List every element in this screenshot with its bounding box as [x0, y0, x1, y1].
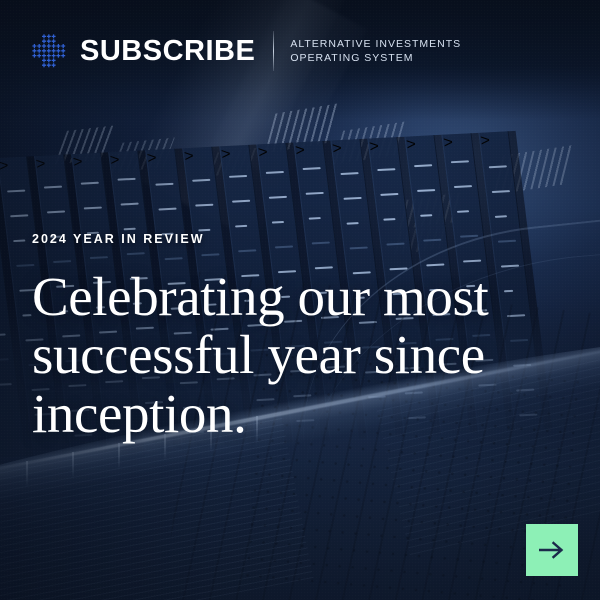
- slide-content: SUBSCRIBE ALTERNATIVE INVESTMENTS OPERAT…: [0, 0, 600, 600]
- lockup-divider: [273, 31, 274, 71]
- tagline-line-1: ALTERNATIVE INVESTMENTS: [290, 37, 461, 51]
- hero-text-block: 2024 YEAR IN REVIEW Celebrating our most…: [32, 232, 532, 443]
- brand-wordmark: SUBSCRIBE: [80, 37, 255, 66]
- next-arrow-button[interactable]: [526, 524, 578, 576]
- subscribe-plus-mark-icon: [32, 34, 66, 68]
- tagline-line-2: OPERATING SYSTEM: [290, 51, 461, 65]
- hero-headline: Celebrating our most successful year sin…: [32, 268, 532, 443]
- brand-lockup[interactable]: SUBSCRIBE ALTERNATIVE INVESTMENTS OPERAT…: [32, 31, 461, 71]
- hero-eyebrow: 2024 YEAR IN REVIEW: [32, 232, 532, 246]
- slide-canvas: >>>>>>>>>>>>>>> SUBSCRIBE ALTERNATIVE IN…: [0, 0, 600, 600]
- arrow-right-icon: [539, 541, 565, 559]
- brand-tagline: ALTERNATIVE INVESTMENTS OPERATING SYSTEM: [290, 37, 461, 65]
